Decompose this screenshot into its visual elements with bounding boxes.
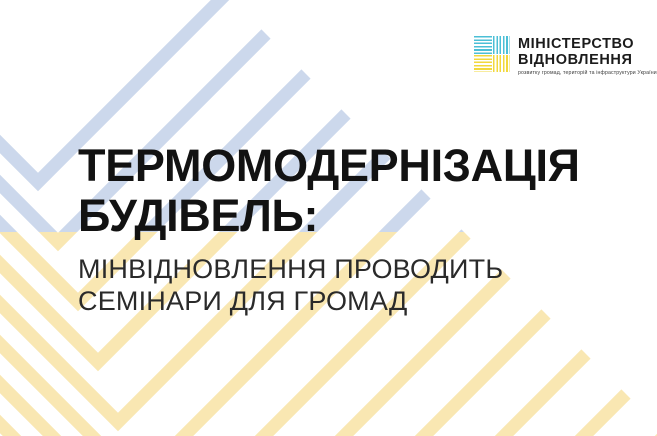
logo-quadrant-bottom-left xyxy=(474,55,492,73)
logo-quadrant-top-right xyxy=(493,36,511,54)
logo-quadrant-bottom-right xyxy=(493,55,511,73)
ministry-logo-mark-icon xyxy=(474,36,510,72)
logo-title-line-1: МІНІСТЕРСТВО xyxy=(518,36,657,52)
logo-quadrant-top-left xyxy=(474,36,492,54)
poster-canvas: МІНІСТЕРСТВО ВІДНОВЛЕННЯ розвитку громад… xyxy=(0,0,657,436)
headline-line-1: ТЕРМОМОДЕРНІЗАЦІЯ xyxy=(78,141,638,191)
logo-title-line-2: ВІДНОВЛЕННЯ xyxy=(518,52,657,68)
subtitle-line-2: СЕМІНАРИ ДЛЯ ГРОМАД xyxy=(78,285,598,317)
subtitle-line-1: МІНВІДНОВЛЕННЯ ПРОВОДИТЬ xyxy=(78,253,598,285)
headline-line-2: БУДІВЕЛЬ: xyxy=(78,191,638,241)
ministry-logo-text: МІНІСТЕРСТВО ВІДНОВЛЕННЯ розвитку громад… xyxy=(518,36,657,78)
page-subtitle: МІНВІДНОВЛЕННЯ ПРОВОДИТЬ СЕМІНАРИ ДЛЯ ГР… xyxy=(78,253,598,317)
ministry-logo: МІНІСТЕРСТВО ВІДНОВЛЕННЯ розвитку громад… xyxy=(474,36,657,78)
logo-tagline: розвитку громад, територій та інфраструк… xyxy=(518,70,657,78)
page-title: ТЕРМОМОДЕРНІЗАЦІЯ БУДІВЕЛЬ: xyxy=(78,141,638,241)
